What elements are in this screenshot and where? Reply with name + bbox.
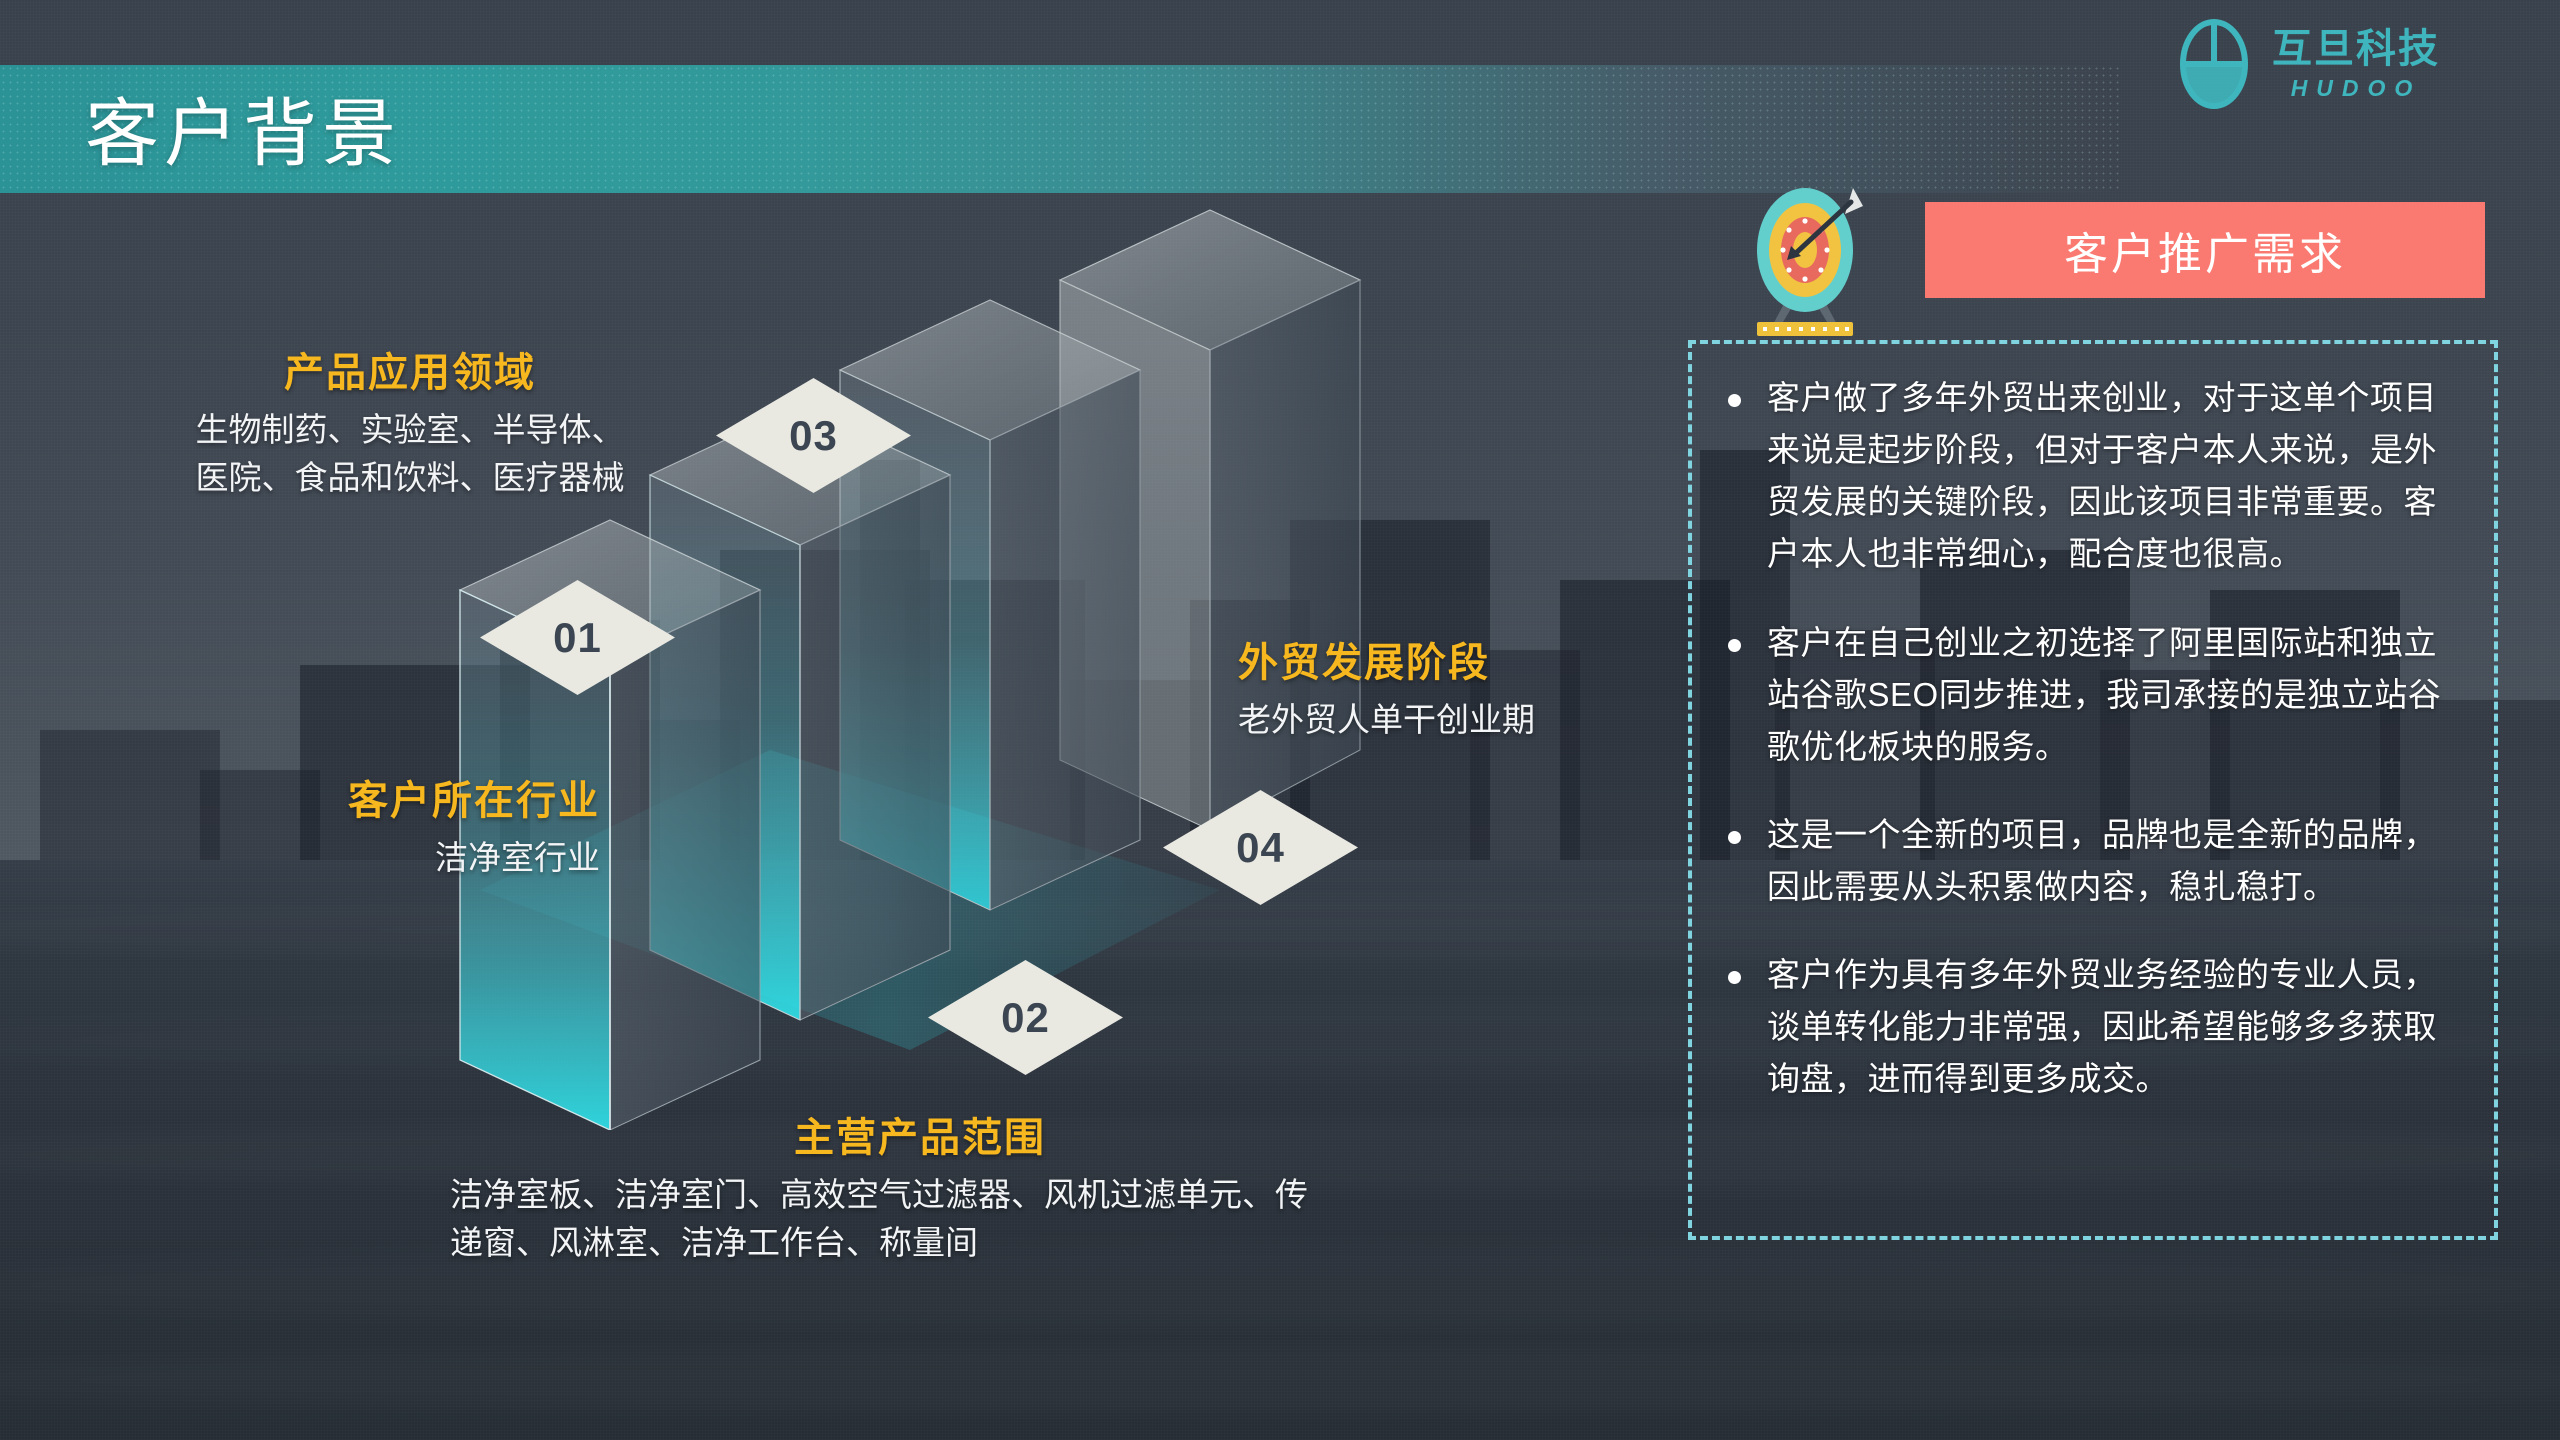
promo-banner-label: 客户推广需求	[2064, 218, 2346, 282]
promo-requirement-banner: 客户推广需求	[1925, 202, 2485, 298]
bullet-dot-icon	[1728, 394, 1741, 407]
note-text: 客户在自己创业之初选择了阿里国际站和独立站谷歌SEO同步推进，我司承接的是独立站…	[1767, 617, 2468, 773]
label-foreign-trade-stage: 外贸发展阶段 老外贸人单干创业期	[1238, 630, 1738, 744]
label-body: 洁净室行业	[180, 834, 600, 882]
label-body: 老外贸人单干创业期	[1238, 696, 1738, 744]
list-item: 客户作为具有多年外贸业务经验的专业人员，谈单转化能力非常强，因此希望能够多多获取…	[1710, 949, 2468, 1105]
brand-logo: 互旦科技 HUDOO	[2178, 18, 2440, 110]
diamond-number: 01	[553, 614, 602, 662]
label-head: 主营产品范围	[380, 1105, 1460, 1163]
diamond-number: 03	[789, 412, 838, 460]
requirement-notes-box: 客户做了多年外贸出来创业，对于这单个项目来说是起步阶段，但对于客户本人来说，是外…	[1688, 340, 2498, 1240]
label-head: 产品应用领域	[100, 340, 720, 398]
list-item: 这是一个全新的项目，品牌也是全新的品牌，因此需要从头积累做内容，稳扎稳打。	[1710, 809, 2468, 913]
label-body: 生物制药、实验室、半导体、 医院、食品和饮料、医疗器械	[100, 406, 720, 502]
diamond-number: 04	[1236, 824, 1285, 872]
label-body: 洁净室板、洁净室门、高效空气过滤器、风机过滤单元、传 递窗、风淋室、洁净工作台、…	[380, 1171, 1460, 1267]
diamond-number: 02	[1001, 994, 1050, 1042]
diamond-03: 03	[716, 378, 911, 493]
bullet-dot-icon	[1728, 971, 1741, 984]
page-title: 客户背景	[85, 74, 401, 181]
note-text: 这是一个全新的项目，品牌也是全新的品牌，因此需要从头积累做内容，稳扎稳打。	[1767, 809, 2468, 913]
bullet-dot-icon	[1728, 831, 1741, 844]
diamond-01: 01	[480, 580, 675, 695]
label-product-application-fields: 产品应用领域 生物制药、实验室、半导体、 医院、食品和饮料、医疗器械	[100, 340, 720, 502]
label-head: 外贸发展阶段	[1238, 630, 1738, 688]
label-head: 客户所在行业	[180, 768, 600, 826]
note-text: 客户作为具有多年外贸业务经验的专业人员，谈单转化能力非常强，因此希望能够多多获取…	[1767, 949, 2468, 1105]
dartboard-target-icon	[1725, 180, 1885, 340]
diamond-04: 04	[1163, 790, 1358, 905]
logo-name-en: HUDOO	[2291, 77, 2422, 100]
logo-name-cn: 互旦科技	[2272, 29, 2440, 69]
label-main-product-scope: 主营产品范围 洁净室板、洁净室门、高效空气过滤器、风机过滤单元、传 递窗、风淋室…	[380, 1105, 1460, 1267]
label-customer-industry: 客户所在行业 洁净室行业	[180, 768, 600, 882]
list-item: 客户做了多年外贸出来创业，对于这单个项目来说是起步阶段，但对于客户本人来说，是外…	[1710, 372, 2468, 581]
slide-root: 客户背景 互旦科技 HUDOO	[0, 0, 2560, 1440]
bullet-dot-icon	[1728, 639, 1741, 652]
list-item: 客户在自己创业之初选择了阿里国际站和独立站谷歌SEO同步推进，我司承接的是独立站…	[1710, 617, 2468, 773]
note-text: 客户做了多年外贸出来创业，对于这单个项目来说是起步阶段，但对于客户本人来说，是外…	[1767, 372, 2468, 581]
diamond-02: 02	[928, 960, 1123, 1075]
oval-mouse-logo-icon	[2178, 18, 2250, 110]
